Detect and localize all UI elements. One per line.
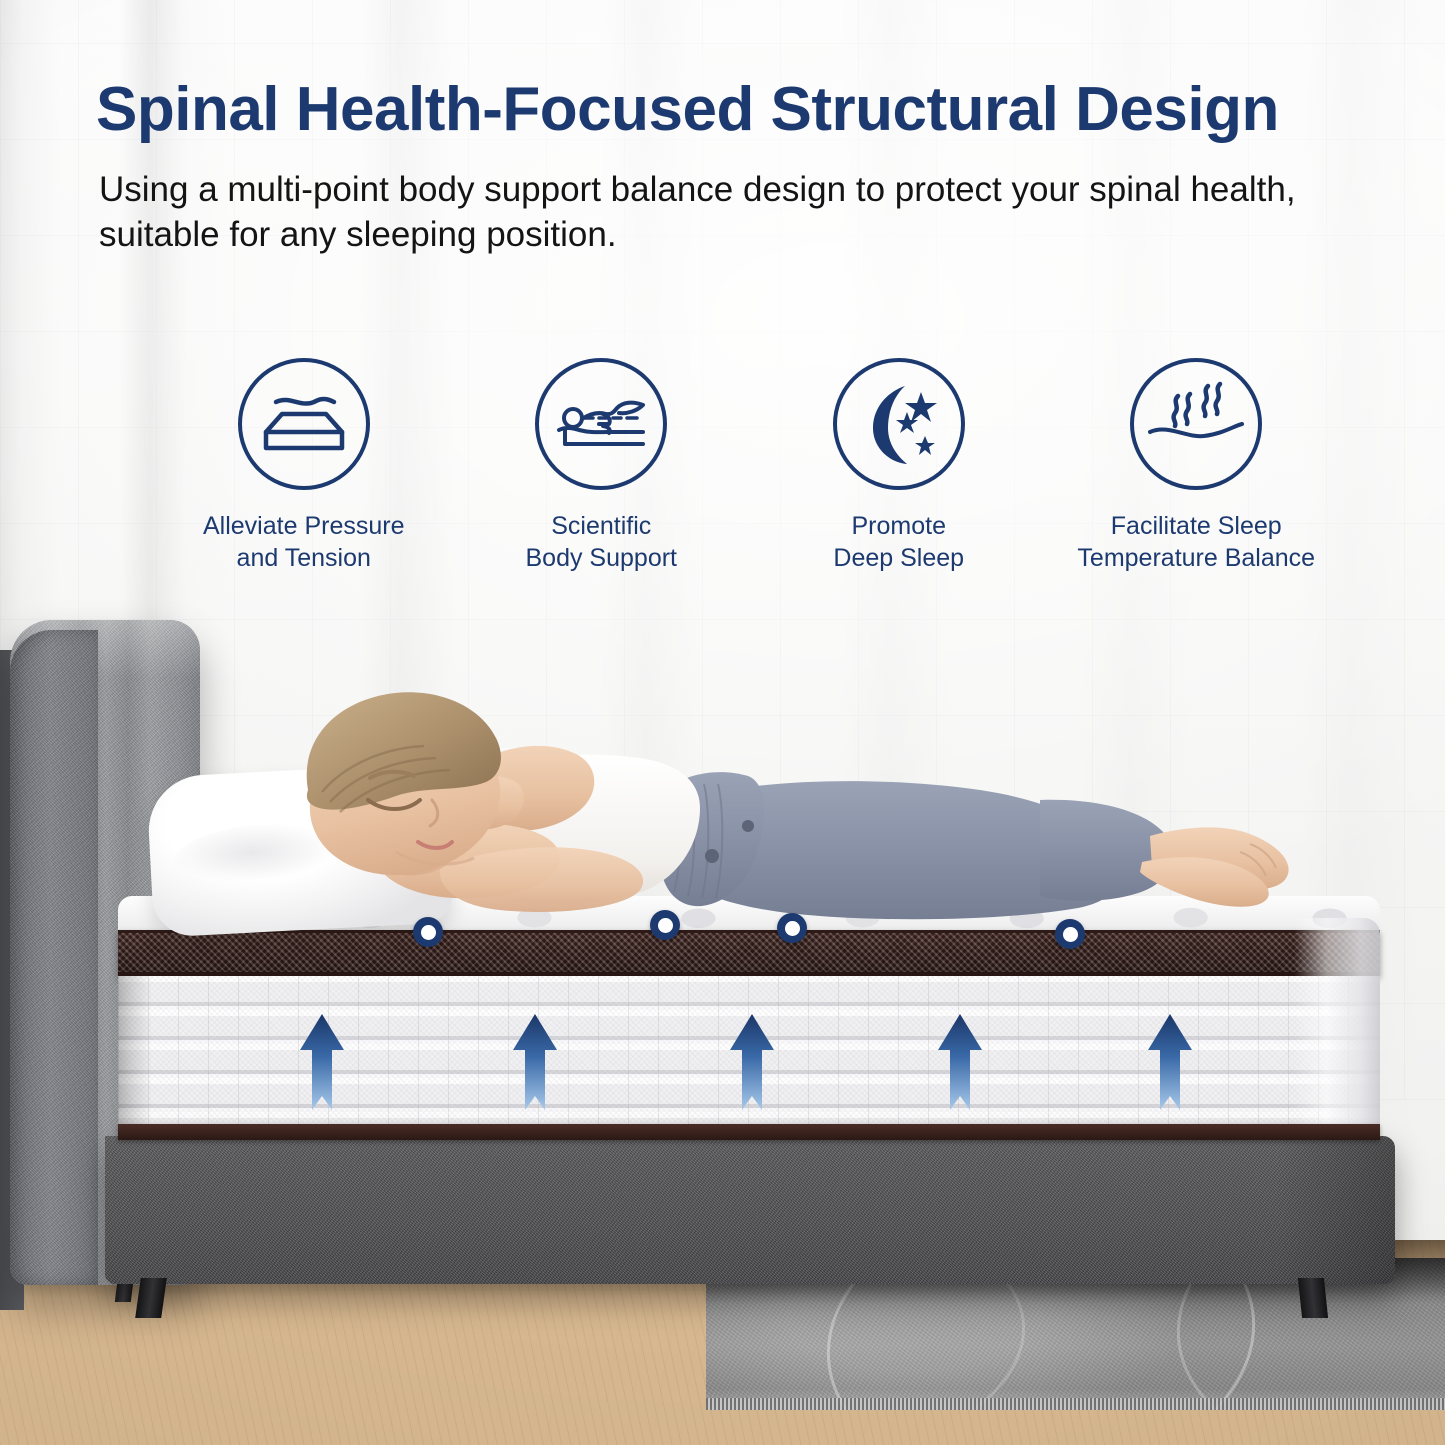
page-title: Spinal Health-Focused Structural Design [96, 78, 1366, 141]
body-support-alignment-icon [535, 358, 667, 490]
feature-label: Alleviate Pressure and Tension [203, 510, 404, 574]
feature-item-promote-deep-sleep: Promote Deep Sleep [750, 358, 1048, 574]
pillow [146, 762, 454, 937]
headboard-fabric-texture [10, 630, 98, 1285]
support-point-marker[interactable] [777, 913, 807, 943]
support-arrow [722, 1012, 782, 1112]
support-arrow [505, 1012, 565, 1112]
base-fabric-texture [105, 1136, 1395, 1284]
infographic-stage: Spinal Health-Focused Structural Design … [0, 0, 1445, 1445]
headboard-side-panel [10, 630, 98, 1285]
mattress-bottom-trim [118, 1124, 1380, 1140]
mattress-right-edge [1294, 918, 1380, 1140]
mattress-pressure-relief-icon [238, 358, 370, 490]
support-point-marker[interactable] [650, 910, 680, 940]
bed-leg-right [1298, 1278, 1328, 1318]
feature-label: Facilitate Sleep Temperature Balance [1077, 510, 1315, 574]
page-subtitle: Using a multi-point body support balance… [99, 168, 1319, 258]
mattress-left-edge-shadow [118, 976, 152, 1136]
feature-label: Scientific Body Support [526, 510, 678, 574]
support-arrow [292, 1012, 352, 1112]
support-point-marker[interactable] [1055, 919, 1085, 949]
rug-fringe [706, 1398, 1445, 1410]
support-point-marker[interactable] [413, 917, 443, 947]
mattress-mesh-border [118, 930, 1380, 976]
support-arrow [930, 1012, 990, 1112]
feature-item-scientific-body-support: Scientific Body Support [453, 358, 751, 574]
bed-base-plinth [105, 1136, 1395, 1284]
heat-dissipation-wave-icon [1130, 358, 1262, 490]
feature-benefits-row: Alleviate Pressure and Tension Scientifi… [155, 358, 1345, 588]
feature-item-alleviate-pressure: Alleviate Pressure and Tension [155, 358, 453, 574]
support-arrow [1140, 1012, 1200, 1112]
feature-label: Promote Deep Sleep [833, 510, 964, 574]
feature-item-temperature-balance: Facilitate Sleep Temperature Balance [1048, 358, 1346, 574]
base-right-shading [1275, 1136, 1395, 1284]
moon-stars-icon [833, 358, 965, 490]
